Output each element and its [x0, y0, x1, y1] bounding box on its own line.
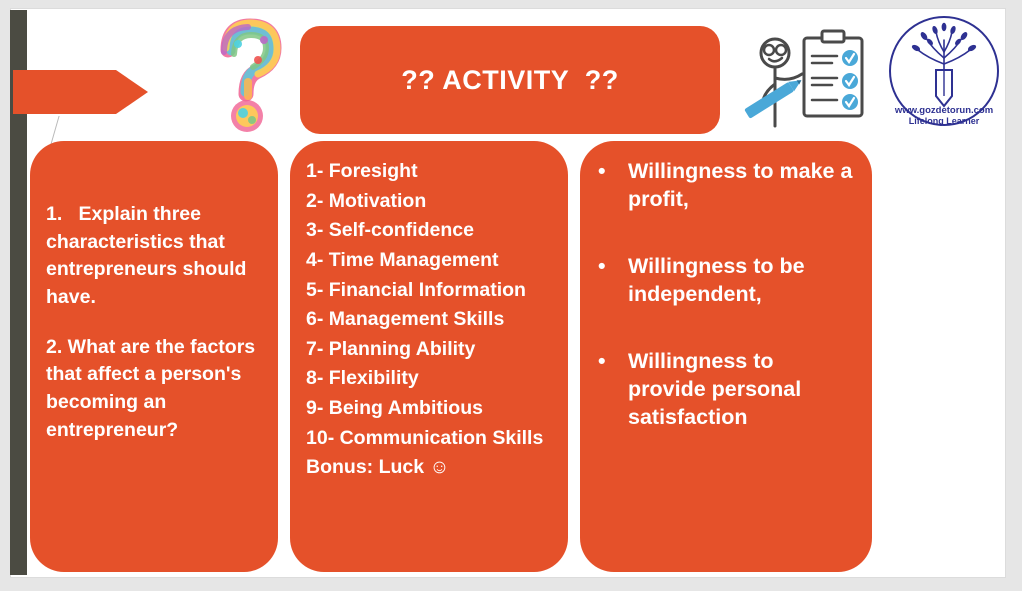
list-item: 3- Self-confidence [306, 216, 554, 246]
list-item: 5- Financial Information [306, 276, 554, 306]
arrow-body [13, 70, 116, 114]
question-mark-icon [198, 14, 298, 136]
brand-logo: www.gozdetorun.com Lifelong Learner [888, 12, 1000, 130]
question-spacer [46, 312, 262, 334]
questions-card: 1. Explain three characteristics that en… [30, 141, 278, 572]
bullet-text: Willingness to be independent, [628, 252, 854, 309]
question-item-1: 1. Explain three characteristics that en… [46, 201, 262, 312]
bullet-dot-icon: • [598, 157, 628, 185]
characteristics-list-card: 1- Foresight 2- Motivation 3- Self-confi… [290, 141, 568, 572]
bullet-item: • Willingness to provide personal satisf… [598, 347, 854, 432]
question-item-2: 2. What are the factors that affect a pe… [46, 334, 262, 445]
logo-url-text: www.gozdetorun.com [894, 105, 993, 116]
arrow-head [116, 70, 148, 114]
list-item: 2- Motivation [306, 187, 554, 217]
list-item: 1- Foresight [306, 157, 554, 187]
list-item: 9- Being Ambitious [306, 394, 554, 424]
bullet-dot-icon: • [598, 347, 628, 375]
bullet-dot-icon: • [598, 252, 628, 280]
checklist-person-icon [742, 26, 872, 138]
right-arrow-icon [13, 70, 148, 114]
motivations-bullets-card: • Willingness to make a profit, • Willin… [580, 141, 872, 572]
list-item: 8- Flexibility [306, 364, 554, 394]
slide-viewport: www.gozdetorun.com Lifelong Learner ?? A… [0, 0, 1022, 591]
list-item: 6- Management Skills [306, 305, 554, 335]
list-item: 10- Communication Skills [306, 424, 554, 454]
bullet-item: • Willingness to be independent, [598, 252, 854, 309]
page-title: ?? ACTIVITY ?? [401, 65, 619, 96]
bullet-item: • Willingness to make a profit, [598, 157, 854, 214]
logo-tagline-text: Lifelong Learner [909, 116, 980, 126]
bullet-text: Willingness to provide personal satisfac… [628, 347, 854, 432]
list-item: 4- Time Management [306, 246, 554, 276]
list-item: 7- Planning Ability [306, 335, 554, 365]
list-item-bonus: Bonus: Luck ☺ [306, 453, 554, 483]
bullet-text: Willingness to make a profit, [628, 157, 854, 214]
title-banner: ?? ACTIVITY ?? [300, 26, 720, 134]
